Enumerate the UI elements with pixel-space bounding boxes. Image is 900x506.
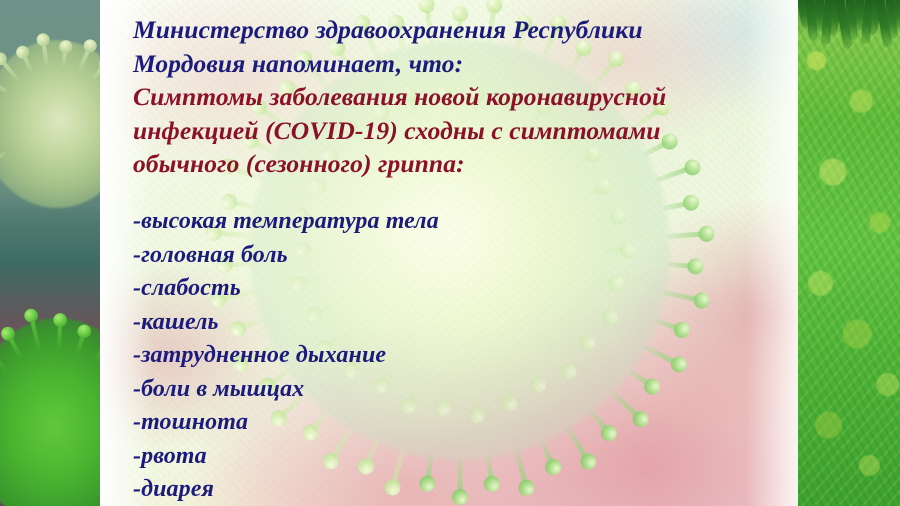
symptom-item: -диарея	[133, 477, 439, 501]
symptom-item: -слабость	[133, 276, 439, 300]
headline-line-4: инфекцией (COVID-19) сходны с симптомами	[133, 118, 666, 144]
covid-info-poster: Министерство здравоохранения Республики …	[0, 0, 900, 506]
headline-line-2: Мордовия напоминает, что:	[133, 51, 666, 77]
symptom-list: -высокая температура тела -головная боль…	[133, 209, 439, 506]
poster-text-layer: Министерство здравоохранения Республики …	[0, 0, 900, 506]
symptom-item: -высокая температура тела	[133, 209, 439, 233]
headline-line-3: Симптомы заболевания новой коронавирусно…	[133, 84, 666, 110]
symptom-item: -тошнота	[133, 410, 439, 434]
symptom-item: -затрудненное дыхание	[133, 343, 439, 367]
symptom-item: -головная боль	[133, 243, 439, 267]
headline-line-1: Министерство здравоохранения Республики	[133, 17, 666, 43]
headline-line-5: обычного (сезонного) гриппа:	[133, 151, 666, 177]
poster-headline: Министерство здравоохранения Республики …	[133, 17, 666, 185]
symptom-item: -боли в мышцах	[133, 377, 439, 401]
symptom-item: -кашель	[133, 310, 439, 334]
symptom-item: -рвота	[133, 444, 439, 468]
